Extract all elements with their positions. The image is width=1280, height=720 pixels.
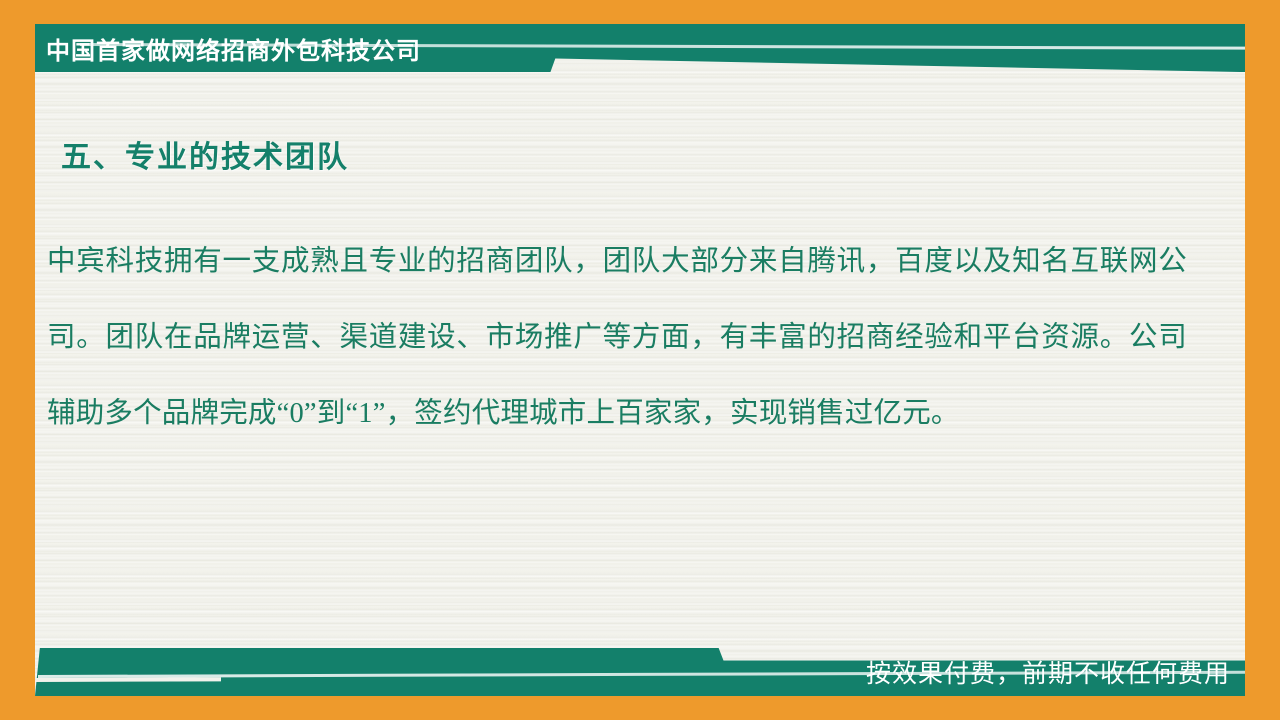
footer-accent-underline — [36, 677, 221, 682]
slide-content: 五、专业的技术团队 中宾科技拥有一支成熟且专业的招商团队，团队大部分来自腾讯，百… — [35, 72, 1245, 672]
header-title: 中国首家做网络招商外包科技公司 — [46, 24, 421, 72]
body-paragraph: 中宾科技拥有一支成熟且专业的招商团队，团队大部分来自腾讯，百度以及知名互联网公司… — [47, 224, 1187, 452]
section-heading: 五、专业的技术团队 — [61, 132, 349, 176]
body-paragraph-block: 中宾科技拥有一支成熟且专业的招商团队，团队大部分来自腾讯，百度以及知名互联网公司… — [47, 224, 1187, 452]
footer-tagline: 按效果付费，前期不收任何费用 — [866, 648, 1230, 696]
slide-canvas: 中国首家做网络招商外包科技公司 五、专业的技术团队 中宾科技拥有一支成熟且专业的… — [0, 0, 1280, 720]
